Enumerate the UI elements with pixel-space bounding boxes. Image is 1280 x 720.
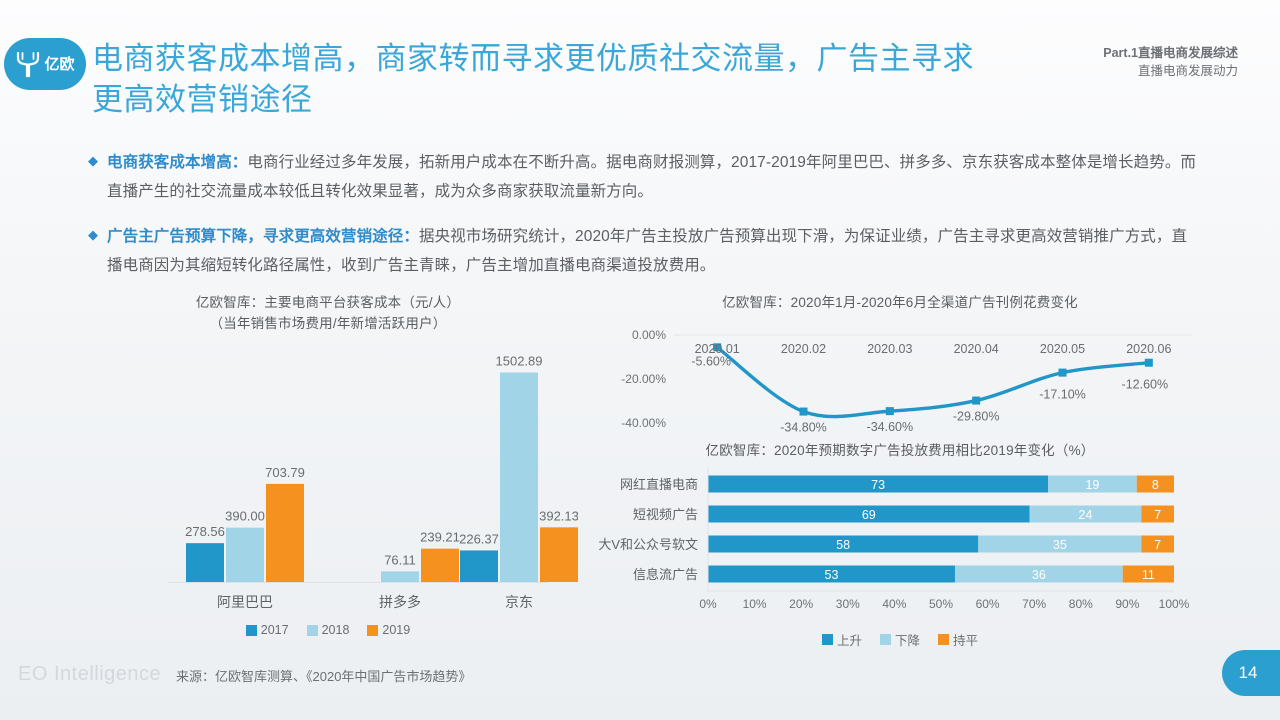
legend-item-2018: 2018: [307, 623, 350, 637]
line-data-marker: [972, 397, 980, 405]
line-series-path: [717, 347, 1149, 416]
line-value-label: -34.60%: [867, 420, 914, 433]
bar-value-label: 76.11: [384, 552, 416, 567]
stacked-segment-value: 8: [1152, 478, 1159, 492]
line-data-marker: [1059, 369, 1067, 377]
chart-title: 亿欧智库：2020年预期数字广告投放费用相比2019年变化（%）: [596, 440, 1204, 461]
ad-spend-change-chart: 亿欧智库：2020年1月-2020年6月全渠道广告刊例花费变化 0.00%-20…: [596, 292, 1204, 432]
line-x-tick: 2020.03: [867, 342, 912, 356]
legend-item-flat: 持平: [938, 630, 978, 649]
bar-2019-阿里巴巴: [266, 484, 304, 582]
line-y-tick: 0.00%: [632, 328, 666, 342]
legend-item-down: 下降: [880, 630, 920, 649]
yi-ou-logo-icon: [15, 49, 41, 79]
stacked-x-tick: 30%: [836, 597, 860, 611]
legend-swatch: [367, 625, 378, 636]
bar-2017-阿里巴巴: [186, 543, 224, 582]
bullet-body: 电商行业经过多年发展，拓新用户成本在不断升高。据电商财报测算，2017-2019…: [107, 154, 1196, 200]
bar-2019-拼多多: [421, 549, 459, 582]
slide-root: 亿欧 电商获客成本增高，商家转而寻求更优质社交流量，广告主寻求更高效营销途径 P…: [0, 0, 1280, 720]
footer-brand: EO Intelligence: [18, 663, 161, 686]
bar-category-label: 拼多多: [379, 594, 421, 610]
line-value-label: -5.60%: [691, 354, 731, 368]
line-value-label: -34.80%: [780, 421, 827, 433]
stacked-row-label: 信息流广告: [633, 567, 698, 582]
legend-swatch: [246, 625, 257, 636]
legend-label: 上升: [837, 630, 862, 649]
legend-swatch: [822, 634, 833, 645]
legend-item-2019: 2019: [367, 623, 410, 637]
stacked-bar-plot: 网红直播电商73198短视频广告69247大V和公众号软文58357信息流广告5…: [596, 461, 1204, 621]
bar-2018-京东: [500, 373, 538, 582]
stacked-x-tick: 80%: [1069, 597, 1093, 611]
legend-label: 下降: [895, 630, 920, 649]
legend-swatch: [307, 625, 318, 636]
bullet-list: ◆ 电商获客成本增高：电商行业经过多年发展，拓新用户成本在不断升高。据电商财报测…: [88, 148, 1198, 296]
bar-chart-legend: 2017 2018 2019: [78, 623, 578, 637]
bar-category-label: 京东: [505, 594, 533, 610]
bullet-item: ◆ 电商获客成本增高：电商行业经过多年发展，拓新用户成本在不断升高。据电商财报测…: [88, 148, 1198, 206]
line-value-label: -29.80%: [953, 410, 1000, 424]
legend-item-up: 上升: [822, 630, 862, 649]
line-x-tick: 2020.02: [781, 342, 826, 356]
stacked-segment-value: 58: [836, 538, 850, 552]
chart-title: 亿欧智库：主要电商平台获客成本（元/人）: [78, 292, 578, 313]
stacked-segment-value: 36: [1032, 568, 1046, 582]
line-value-label: -17.10%: [1039, 388, 1086, 402]
acquisition-cost-chart: 亿欧智库：主要电商平台获客成本（元/人） （当年销售市场费用/年新增活跃用户） …: [78, 292, 578, 652]
bullet-heading: 广告主广告预算下降，寻求更高效营销途径：: [107, 228, 419, 245]
page-number: 14: [1222, 650, 1280, 696]
diamond-bullet-icon: ◆: [88, 222, 98, 280]
legend-label: 2017: [261, 623, 289, 637]
stacked-x-tick: 20%: [789, 597, 813, 611]
stacked-segment-value: 53: [825, 568, 839, 582]
legend-label: 2019: [382, 623, 410, 637]
bar-2018-拼多多: [381, 571, 419, 582]
stacked-x-tick: 0%: [699, 597, 717, 611]
stacked-segment-value: 11: [1142, 568, 1155, 582]
section-label: Part.1直播电商发展综述 直播电商发展动力: [1103, 44, 1238, 80]
diamond-bullet-icon: ◆: [88, 148, 98, 206]
stacked-x-tick: 90%: [1115, 597, 1139, 611]
stacked-x-tick: 10%: [743, 597, 767, 611]
line-x-tick: 2020.04: [954, 342, 999, 356]
line-value-label: -12.60%: [1122, 378, 1169, 392]
bullet-text: 广告主广告预算下降，寻求更高效营销途径：据央视市场研究统计，2020年广告主投放…: [107, 222, 1198, 280]
page-title: 电商获客成本增高，商家转而寻求更优质社交流量，广告主寻求更高效营销途径: [92, 38, 992, 120]
bar-2018-阿里巴巴: [226, 528, 264, 582]
line-chart-plot: 0.00%-20.00%-40.00%2020.01-5.60%2020.02-…: [596, 313, 1204, 433]
legend-label: 2018: [322, 623, 350, 637]
section-label-line2: 直播电商发展动力: [1103, 62, 1238, 80]
stacked-segment-value: 69: [862, 508, 876, 522]
bar-value-label: 392.13: [539, 508, 578, 523]
chart-title: 亿欧智库：2020年1月-2020年6月全渠道广告刊例花费变化: [596, 292, 1204, 313]
bar-value-label: 278.56: [185, 524, 225, 539]
bar-category-label: 阿里巴巴: [217, 594, 273, 610]
bullet-text: 电商获客成本增高：电商行业经过多年发展，拓新用户成本在不断升高。据电商财报测算，…: [107, 148, 1198, 206]
bullet-item: ◆ 广告主广告预算下降，寻求更高效营销途径：据央视市场研究统计，2020年广告主…: [88, 222, 1198, 280]
bullet-heading: 电商获客成本增高：: [107, 154, 247, 171]
stacked-x-tick: 50%: [929, 597, 953, 611]
legend-swatch: [938, 634, 949, 645]
bar-2019-京东: [540, 527, 578, 582]
bar-value-label: 1502.89: [496, 354, 543, 369]
stacked-segment-value: 19: [1085, 478, 1099, 492]
stacked-row-label: 大V和公众号软文: [598, 537, 698, 552]
line-data-marker: [886, 407, 894, 415]
stacked-x-tick: 60%: [976, 597, 1000, 611]
stacked-segment-value: 35: [1053, 538, 1067, 552]
line-data-marker: [800, 408, 808, 416]
stacked-bar-legend: 上升 下降 持平: [596, 630, 1204, 649]
bar-2017-京东: [460, 550, 498, 582]
legend-swatch: [880, 634, 891, 645]
stacked-segment-value: 24: [1079, 508, 1093, 522]
bar-chart-plot: 278.56390.00703.79阿里巴巴76.11239.21拼多多226.…: [78, 334, 578, 614]
line-y-tick: -40.00%: [621, 416, 666, 430]
logo-text: 亿欧: [44, 57, 74, 72]
line-x-tick: 2020.05: [1040, 342, 1085, 356]
stacked-row-label: 短视频广告: [633, 507, 698, 522]
stacked-x-tick: 100%: [1159, 597, 1190, 611]
legend-label: 持平: [953, 630, 978, 649]
source-note: 来源：亿欧智库测算、《2020年中国广告市场趋势》: [176, 666, 471, 685]
line-y-tick: -20.00%: [621, 372, 666, 386]
stacked-segment-value: 73: [871, 478, 885, 492]
bar-value-label: 390.00: [225, 509, 265, 524]
stacked-row-label: 网红直播电商: [620, 477, 698, 492]
bar-value-label: 226.37: [459, 531, 499, 546]
bar-value-label: 239.21: [420, 530, 460, 545]
brand-logo: 亿欧: [4, 38, 86, 90]
stacked-segment-value: 7: [1154, 538, 1161, 552]
chart-subtitle: （当年销售市场费用/年新增活跃用户）: [78, 313, 578, 334]
stacked-x-tick: 70%: [1022, 597, 1046, 611]
bar-value-label: 703.79: [265, 465, 305, 480]
legend-item-2017: 2017: [246, 623, 289, 637]
digital-ad-budget-chart: 亿欧智库：2020年预期数字广告投放费用相比2019年变化（%） 网红直播电商7…: [596, 440, 1204, 655]
stacked-segment-value: 7: [1154, 508, 1161, 522]
section-label-line1: Part.1直播电商发展综述: [1103, 44, 1238, 62]
stacked-x-tick: 40%: [882, 597, 906, 611]
line-x-tick: 2020.06: [1126, 342, 1171, 356]
line-data-marker: [1145, 359, 1153, 367]
